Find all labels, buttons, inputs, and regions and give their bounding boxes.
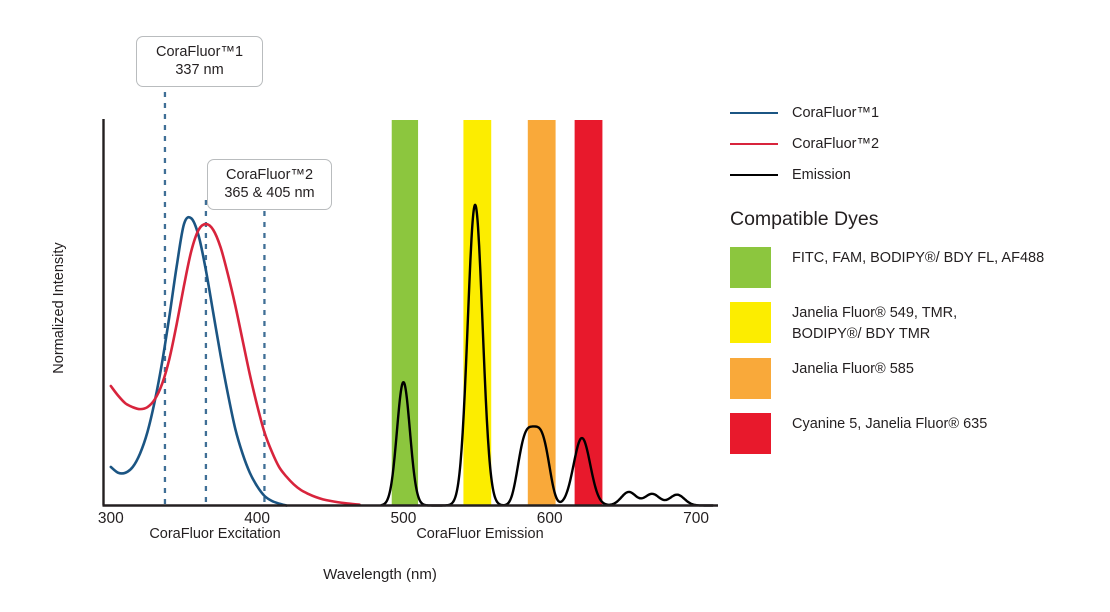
dye-band-3 (575, 120, 603, 506)
dye-label-janelia-585: Janelia Fluor® 585 (792, 358, 914, 380)
x-tick-500: 500 (390, 510, 416, 527)
x-tick-700: 700 (683, 510, 709, 527)
callout-cf2-value: 365 & 405 nm (218, 184, 321, 202)
dye-swatch-yellow (730, 302, 771, 343)
legend-label-corafluor-1: CoraFluor™1 (792, 105, 879, 121)
excitation-marker-lines (165, 92, 264, 506)
dye-swatch-orange (730, 358, 771, 399)
dye-label-janelia-549-line2: BODIPY®/ BDY TMR (792, 324, 957, 345)
compatible-dyes-title: Compatible Dyes (730, 208, 1102, 231)
callout-corafluor-2: CoraFluor™2 365 & 405 nm (207, 159, 332, 210)
dye-label-janelia-549: Janelia Fluor® 549, TMR, BODIPY®/ BDY TM… (792, 302, 957, 344)
legend-item-corafluor-2: CoraFluor™2 (730, 135, 1102, 153)
legend-panel: CoraFluor™1 CoraFluor™2 Emission Compati… (730, 104, 1102, 468)
x-tick-labels: 300400500600700 (98, 510, 709, 527)
callout-cf1-value: 337 nm (147, 61, 252, 79)
dye-label-cyanine-5-line1: Cyanine 5, Janelia Fluor® 635 (792, 414, 987, 435)
callout-cf2-name: CoraFluor™2 (218, 166, 321, 184)
x-tick-300: 300 (98, 510, 124, 527)
line-legend-list: CoraFluor™1 CoraFluor™2 Emission (730, 104, 1102, 184)
legend-line-swatch-corafluor-1 (730, 112, 778, 114)
compatible-dyes-list: FITC, FAM, BODIPY®/ BDY FL, AF488 Janeli… (730, 247, 1102, 454)
chart-canvas: 300400500600700 (0, 0, 720, 612)
legend-item-corafluor-1: CoraFluor™1 (730, 104, 1102, 122)
x-tick-600: 600 (537, 510, 563, 527)
region-label-excitation: CoraFluor Excitation (110, 526, 320, 542)
legend-label-emission: Emission (792, 167, 851, 183)
dye-label-janelia-549-line1: Janelia Fluor® 549, TMR, (792, 303, 957, 324)
region-label-emission: CoraFluor Emission (375, 526, 585, 542)
curve-corafluor2 (111, 224, 360, 505)
dye-label-janelia-585-line1: Janelia Fluor® 585 (792, 359, 914, 380)
dye-row-cyanine-5: Cyanine 5, Janelia Fluor® 635 (730, 413, 1102, 454)
x-tick-400: 400 (244, 510, 270, 527)
y-axis-title: Normalized Intensity (51, 213, 67, 403)
curve-corafluor1 (111, 217, 287, 505)
x-axis-title: Wavelength (nm) (250, 566, 510, 583)
dye-swatch-green (730, 247, 771, 288)
dye-band-2 (528, 120, 556, 506)
dye-label-fitc-line1: FITC, FAM, BODIPY®/ BDY FL, AF488 (792, 248, 1044, 269)
legend-line-swatch-corafluor-2 (730, 143, 778, 145)
dye-row-fitc: FITC, FAM, BODIPY®/ BDY FL, AF488 (730, 247, 1102, 288)
dye-row-janelia-549: Janelia Fluor® 549, TMR, BODIPY®/ BDY TM… (730, 302, 1102, 344)
callout-corafluor-1: CoraFluor™1 337 nm (136, 36, 263, 87)
dye-label-fitc: FITC, FAM, BODIPY®/ BDY FL, AF488 (792, 247, 1044, 269)
legend-item-emission: Emission (730, 166, 1102, 184)
dye-band-group (392, 120, 603, 506)
callout-cf1-name: CoraFluor™1 (147, 43, 252, 61)
spectra-chart: 300400500600700 CoraFluor™1 337 nm CoraF… (0, 0, 720, 612)
dye-label-cyanine-5: Cyanine 5, Janelia Fluor® 635 (792, 413, 987, 435)
legend-line-swatch-emission (730, 174, 778, 176)
dye-row-janelia-585: Janelia Fluor® 585 (730, 358, 1102, 399)
dye-swatch-red (730, 413, 771, 454)
legend-label-corafluor-2: CoraFluor™2 (792, 136, 879, 152)
